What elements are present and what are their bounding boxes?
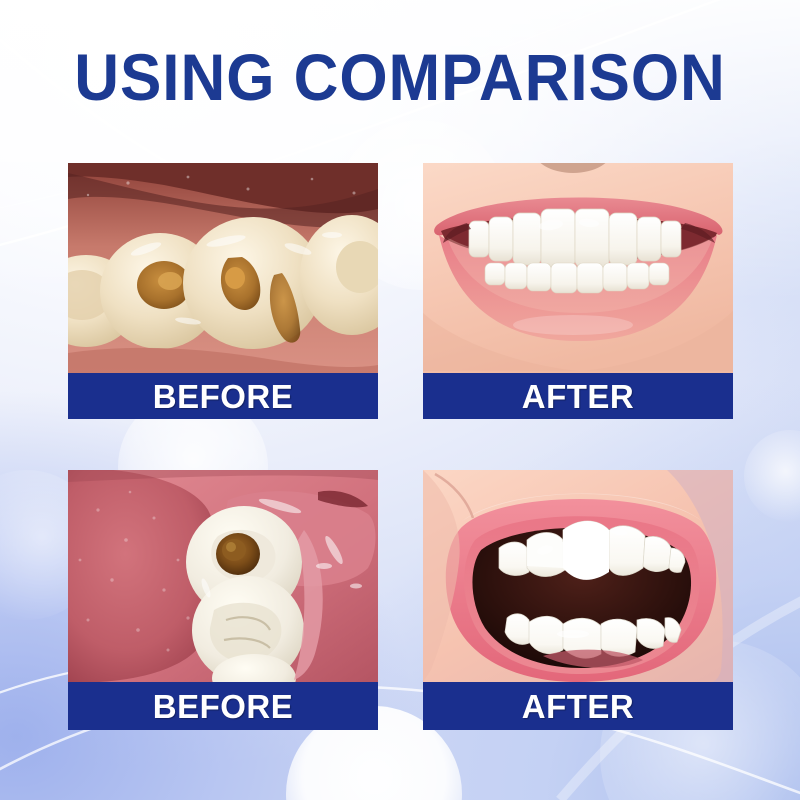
label-text-after: AFTER [522,690,635,723]
comparison-card-row2-after: AFTER [423,470,733,730]
label-text-after: AFTER [522,380,635,413]
photo-molar-with-deep-cavity [68,470,378,682]
page-title: USING COMPARISON [24,44,776,110]
label-bar-row2-before: BEFORE [68,682,378,730]
comparison-card-row1-before: BEFORE [68,163,378,419]
photo-molars-with-cavities [68,163,378,373]
comparison-grid: BEFORE [68,163,733,729]
comparison-card-row2-before: BEFORE [68,470,378,730]
label-bar-row2-after: AFTER [423,682,733,730]
label-bar-row1-before: BEFORE [68,373,378,419]
photo-bright-smile [423,163,733,373]
label-bar-row1-after: AFTER [423,373,733,419]
photo-open-mouth-white-teeth [423,470,733,682]
using-comparison-poster: USING COMPARISON [0,0,800,800]
label-text-before: BEFORE [153,690,294,723]
label-text-before: BEFORE [153,380,294,413]
comparison-card-row1-after: AFTER [423,163,733,419]
